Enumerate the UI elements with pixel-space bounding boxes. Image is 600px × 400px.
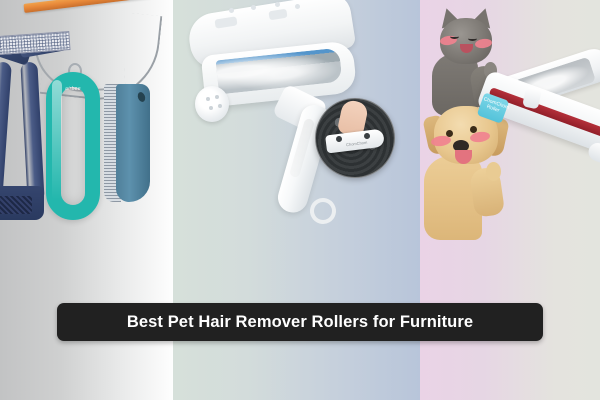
dog-thumb xyxy=(486,162,501,181)
roller-lid-stud xyxy=(229,8,234,13)
banner-title-bar: Best Pet Hair Remover Rollers for Furnit… xyxy=(57,303,543,341)
comb-body xyxy=(116,84,150,202)
usage-inset-circle: ChomChom xyxy=(315,98,395,178)
roller-lid-stud xyxy=(251,5,256,10)
loop-tool-highlight xyxy=(52,80,62,200)
squeegee-arm-right xyxy=(20,62,44,203)
dog-eye-right xyxy=(470,126,477,133)
roller-cap-dot xyxy=(209,106,213,110)
golden-retriever-thumbs-up-icon xyxy=(424,104,522,240)
cat-eye-right xyxy=(468,36,477,41)
roller-handle-hang-loop xyxy=(307,195,339,227)
roller-end-cap-icon xyxy=(195,86,229,122)
dog-eye-left xyxy=(446,130,453,137)
cat-eye-left xyxy=(450,34,459,39)
page-title: Best Pet Hair Remover Rollers for Furnit… xyxy=(127,313,473,332)
roller-lid-stud xyxy=(275,2,280,7)
squeegee-mesh xyxy=(0,31,71,56)
blue-comb-tool-icon xyxy=(104,84,150,202)
squeegee-pad xyxy=(0,196,32,214)
roller-lid-stud xyxy=(295,4,300,9)
pet-hair-remover-banner: airbee ChomChom xyxy=(0,0,600,400)
loop-tool-logo-text: airbee xyxy=(56,86,90,92)
roller-cap-dot xyxy=(206,97,210,101)
roller-cap-dot xyxy=(215,95,219,99)
squeegee-arm-left xyxy=(0,62,12,203)
roller-cap-dot xyxy=(218,104,222,108)
